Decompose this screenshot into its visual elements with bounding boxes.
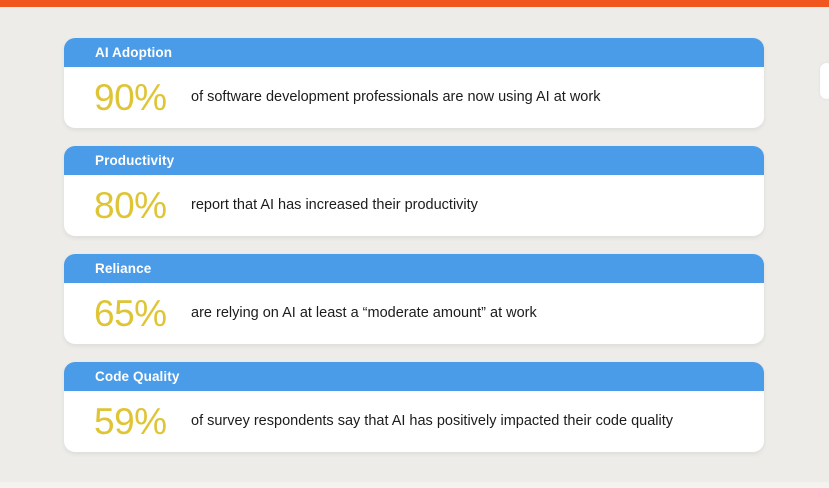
stat-percent-value: 65% xyxy=(94,295,186,332)
stat-card-header: Productivity xyxy=(64,146,764,175)
stat-card-header-label: Productivity xyxy=(95,154,174,168)
stat-card-header: Code Quality xyxy=(64,362,764,391)
scrollbar-thumb[interactable] xyxy=(820,63,829,99)
stat-card: Code Quality 59% of survey respondents s… xyxy=(64,362,764,452)
stat-card-header-label: AI Adoption xyxy=(95,46,172,60)
stat-card-body: 90% of software development professional… xyxy=(64,67,764,128)
stat-card-header: Reliance xyxy=(64,254,764,283)
stat-description-text: are relying on AI at least a “moderate a… xyxy=(191,304,537,322)
stat-description-text: of software development professionals ar… xyxy=(191,88,600,106)
stat-card-body: 80% report that AI has increased their p… xyxy=(64,175,764,236)
top-accent-bar xyxy=(0,0,829,7)
stat-percent-value: 90% xyxy=(94,79,186,116)
stat-card: Reliance 65% are relying on AI at least … xyxy=(64,254,764,344)
stat-card-header-label: Reliance xyxy=(95,262,151,276)
stat-percent-value: 59% xyxy=(94,403,186,440)
stat-card-header: AI Adoption xyxy=(64,38,764,67)
bottom-strip xyxy=(0,482,829,488)
stat-card-body: 59% of survey respondents say that AI ha… xyxy=(64,391,764,452)
stat-card: AI Adoption 90% of software development … xyxy=(64,38,764,128)
scrollbar[interactable] xyxy=(820,7,829,488)
stat-card-body: 65% are relying on AI at least a “modera… xyxy=(64,283,764,344)
stat-card-list: AI Adoption 90% of software development … xyxy=(0,7,829,470)
stat-percent-value: 80% xyxy=(94,187,186,224)
stat-description-text: report that AI has increased their produ… xyxy=(191,196,478,214)
stat-description-text: of survey respondents say that AI has po… xyxy=(191,412,673,430)
stat-card: Productivity 80% report that AI has incr… xyxy=(64,146,764,236)
stat-card-header-label: Code Quality xyxy=(95,370,179,384)
